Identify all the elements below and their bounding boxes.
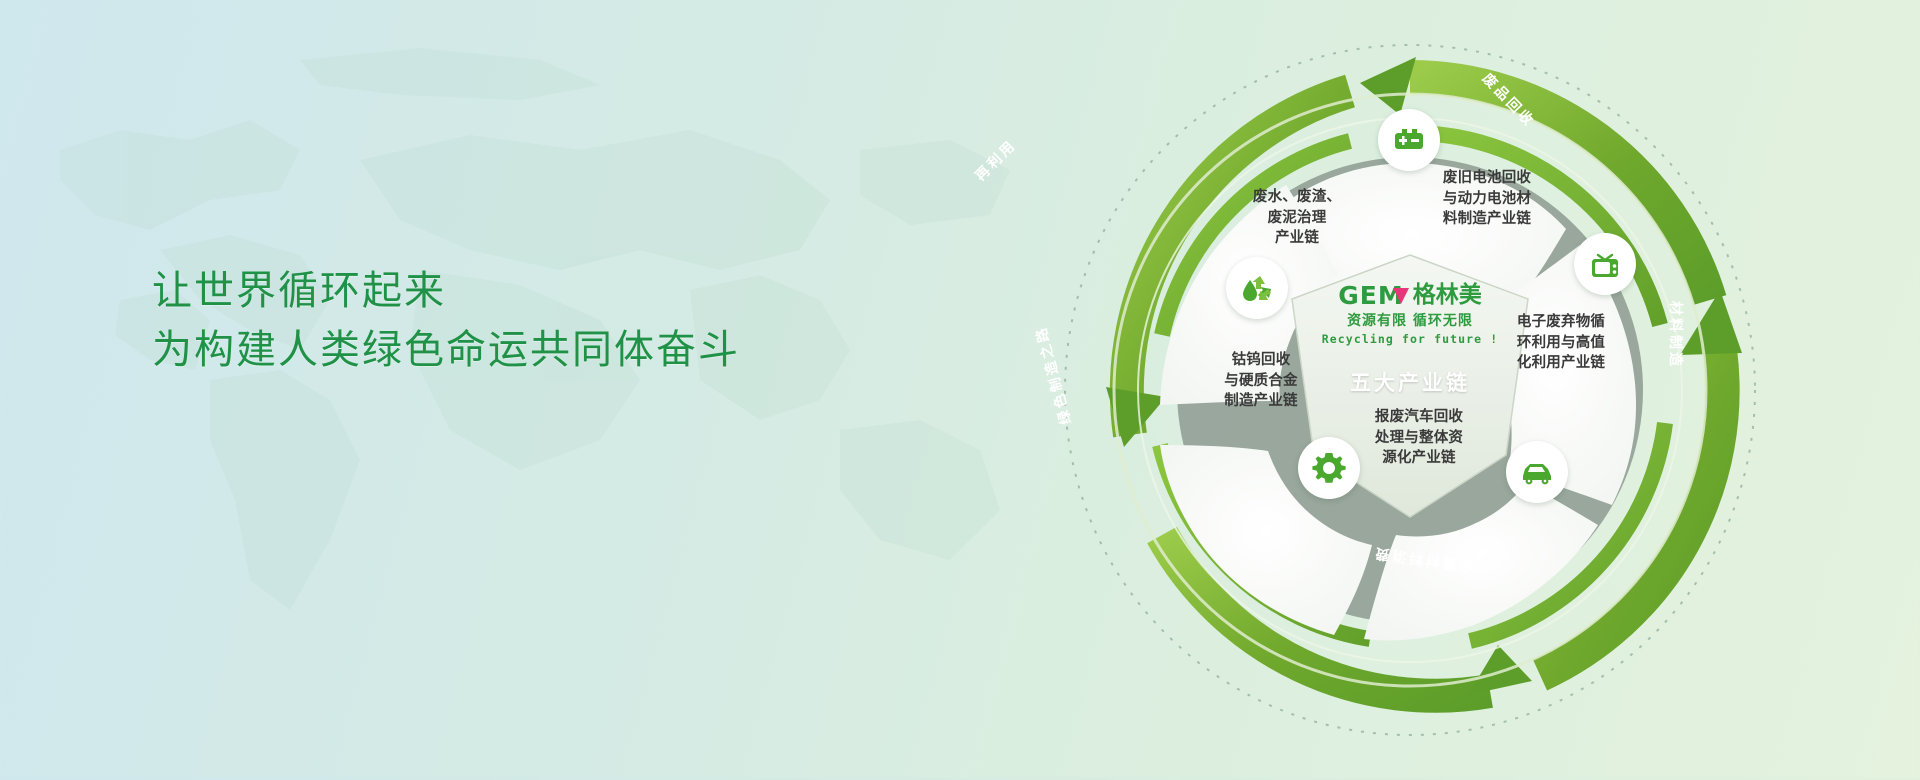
battery-icon-badge[interactable] [1378,109,1440,171]
headline-line-1: 让世界循环起来 [152,262,912,321]
battery-icon [1392,123,1426,157]
logo-triangle-icon [1393,288,1409,304]
segment-label-water: 废水、废渣、 废泥治理 产业链 [1222,187,1372,249]
headline-line-2: 为构建人类绿色命运共同体奋斗 [152,321,912,380]
logo-wordmark-cn: 格林美 [1413,284,1482,307]
recycle-drop-icon [1238,269,1276,307]
car-icon-badge[interactable] [1506,441,1568,503]
world-map-background [0,0,1100,777]
logo-wordmark-row: GEM 格林美 [1288,283,1532,308]
ring-label-manufacture: 材料制造 [1666,301,1686,369]
logo-slogan-en: Recycling for future ! [1288,332,1532,346]
logo-slogan-cn: 资源有限 循环无限 [1288,310,1532,330]
segment-label-vehicle: 报废汽车回收 处理与整体资 源化产业链 [1344,407,1494,469]
center-tag: 五大产业链 [1288,367,1532,397]
banner-stage: 让世界循环起来 为构建人类绿色命运共同体奋斗 [0,0,1920,777]
headline: 让世界循环起来 为构建人类绿色命运共同体奋斗 [152,262,912,380]
recycle-drop-icon-badge[interactable] [1226,257,1288,319]
circular-economy-diagram: 废旧电池回收 与动力电池材 料制造产业链 电子废弃物循 环利用与高值 化利用产业… [1020,5,1800,775]
gear-icon [1311,450,1347,486]
segment-label-battery: 废旧电池回收 与动力电池材 料制造产业链 [1412,168,1562,230]
gear-icon-badge[interactable] [1298,437,1360,499]
tv-icon [1588,247,1622,281]
car-icon [1519,454,1555,490]
tv-icon-badge[interactable] [1574,233,1636,295]
gem-logo: GEM 格林美 资源有限 循环无限 Recycling for future ! [1288,283,1532,346]
